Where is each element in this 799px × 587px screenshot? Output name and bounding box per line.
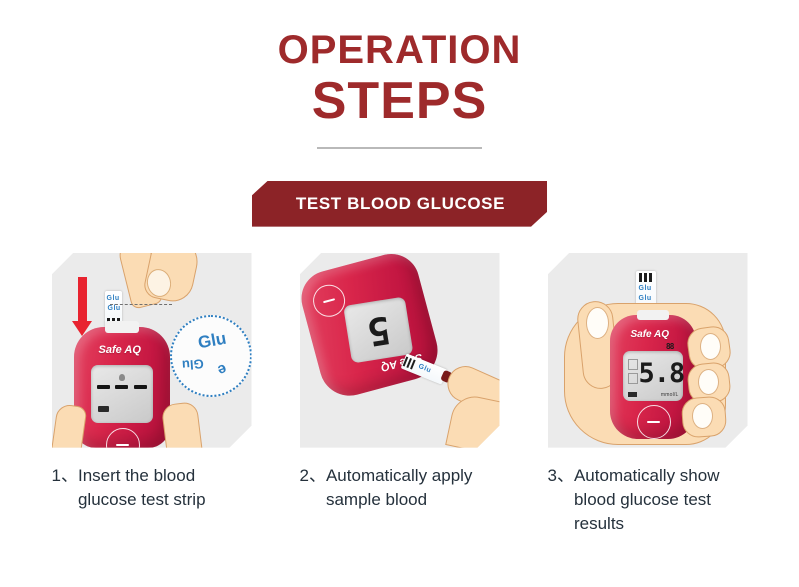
holding-hand <box>52 403 87 448</box>
magnifier-glu-2: Glu <box>181 356 204 372</box>
glucose-meter-device: Safe AQ <box>74 327 170 448</box>
screen-icon <box>119 374 125 381</box>
device-brand-label: Safe AQ <box>99 344 141 356</box>
step-1-number: 1、 <box>52 464 78 512</box>
glucose-meter-rotated-wrap: 5 Safe AQ <box>300 253 445 404</box>
steps-row: Glu Glu Glu Glu e <box>0 253 799 536</box>
screen-value: 5 <box>364 307 393 354</box>
power-button[interactable] <box>309 281 348 320</box>
step-3: Glu Glu Safe AQ 88 5.8 <box>548 253 748 536</box>
step-2-caption: 2、 Automatically apply sample blood <box>300 464 500 512</box>
strip-contacts <box>402 356 415 369</box>
step-1-illustration: Glu Glu Glu Glu e <box>52 253 252 448</box>
step-3-number: 3、 <box>548 464 574 536</box>
magnifier-glu-3: e <box>215 360 229 379</box>
callout-leader-line <box>110 304 172 306</box>
finger-nail-icon-3 <box>692 403 713 429</box>
strip-glu-label: Glu <box>639 285 652 292</box>
screen-value: 5.8 <box>639 358 685 389</box>
page-title-line2: STEPS <box>0 74 799 129</box>
step-2-number: 2、 <box>300 464 326 512</box>
section-banner: TEST BLOOD GLUCOSE <box>252 181 547 227</box>
strip-glu-label: Glu <box>417 363 432 374</box>
finger-nail-icon-1 <box>700 333 721 360</box>
finger-nail-icon-2 <box>698 369 719 395</box>
magnifier-glu-1: Glu <box>196 328 227 353</box>
operation-steps-page: OPERATION STEPS TEST BLOOD GLUCOSE Glu G… <box>0 0 799 587</box>
page-title-line1: OPERATION <box>0 30 799 70</box>
down-arrow-icon <box>78 277 87 321</box>
step-1-caption: 1、 Insert the blood glucose test strip <box>52 464 252 512</box>
screen-indicator: 88 <box>666 342 674 351</box>
thumb-nail-icon <box>586 307 609 339</box>
strip-glu-label: Glu <box>107 295 120 302</box>
strip-port <box>637 310 669 320</box>
step-3-illustration: Glu Glu Safe AQ 88 5.8 <box>548 253 748 448</box>
device-screen: 88 5.8 mmol/L <box>623 351 683 401</box>
screen-battery-icon <box>628 392 637 397</box>
step-3-text: Automatically show blood glucose test re… <box>574 464 748 536</box>
strip-glu-label-2: Glu <box>639 295 652 302</box>
step-3-caption: 3、 Automatically show blood glucose test… <box>548 464 748 536</box>
holding-hand-right <box>160 401 202 448</box>
title-divider <box>317 147 482 149</box>
device-screen: 5 <box>343 296 413 363</box>
strip-contacts-top <box>636 273 656 282</box>
screen-unit-label: mmol/L <box>661 392 679 398</box>
step-1: Glu Glu Glu Glu e <box>52 253 252 536</box>
device-screen <box>91 365 153 423</box>
step-2: 5 Safe AQ Glu 2、 <box>300 253 500 536</box>
screen-battery-icon <box>98 406 109 412</box>
step-1-text: Insert the blood glucose test strip <box>78 464 252 512</box>
glucose-meter-device: 5 Safe AQ <box>300 253 444 402</box>
strip-port <box>105 321 139 333</box>
screen-left-boxes <box>628 359 638 370</box>
power-button[interactable] <box>106 428 140 448</box>
section-banner-wrap: TEST BLOOD GLUCOSE <box>0 181 799 227</box>
page-header: OPERATION STEPS <box>0 0 799 149</box>
magnifier-callout: Glu Glu e <box>170 315 252 397</box>
hand-icon <box>445 392 500 448</box>
device-brand-label: Safe AQ <box>631 329 670 340</box>
screen-left-boxes-2 <box>628 373 638 384</box>
power-button[interactable] <box>637 405 671 439</box>
step-2-text: Automatically apply sample blood <box>326 464 500 512</box>
strip-glu-label-2: Glu <box>108 305 121 312</box>
step-2-illustration: 5 Safe AQ Glu <box>300 253 500 448</box>
screen-dashes <box>97 385 147 389</box>
